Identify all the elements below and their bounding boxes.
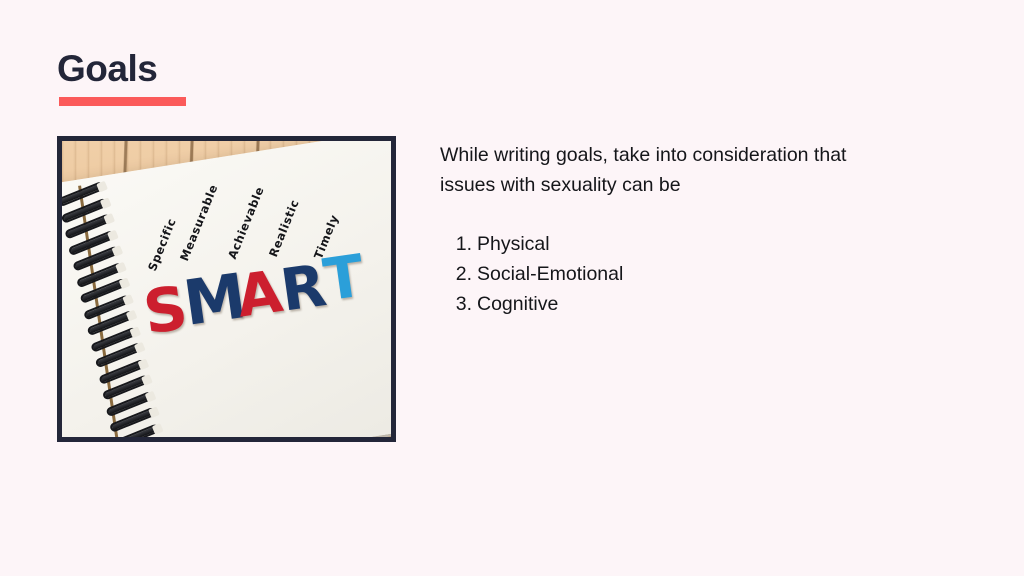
list-item: 3.Cognitive: [452, 289, 872, 319]
smart-letter: R: [277, 256, 327, 319]
list-item: 1.Physical: [452, 229, 872, 259]
goal-types-list: 1.Physical2.Social-Emotional3.Cognitive: [452, 229, 872, 319]
list-item-label: Cognitive: [477, 289, 558, 319]
body-paragraph: While writing goals, take into considera…: [440, 140, 895, 200]
list-item-number: 1.: [452, 229, 472, 259]
list-item-label: Physical: [477, 229, 550, 259]
smart-letter: T: [320, 247, 365, 310]
smart-goals-photo: SpecificMeasurableAchievableRealisticTim…: [57, 136, 396, 442]
page-title: Goals: [57, 50, 157, 89]
list-item-label: Social-Emotional: [477, 259, 623, 289]
title-underline-rule: [59, 97, 186, 106]
list-item-number: 3.: [452, 289, 472, 319]
list-item-number: 2.: [452, 259, 472, 289]
photo-content: SpecificMeasurableAchievableRealisticTim…: [62, 141, 391, 437]
list-item: 2.Social-Emotional: [452, 259, 872, 289]
smart-letter: A: [233, 262, 284, 325]
